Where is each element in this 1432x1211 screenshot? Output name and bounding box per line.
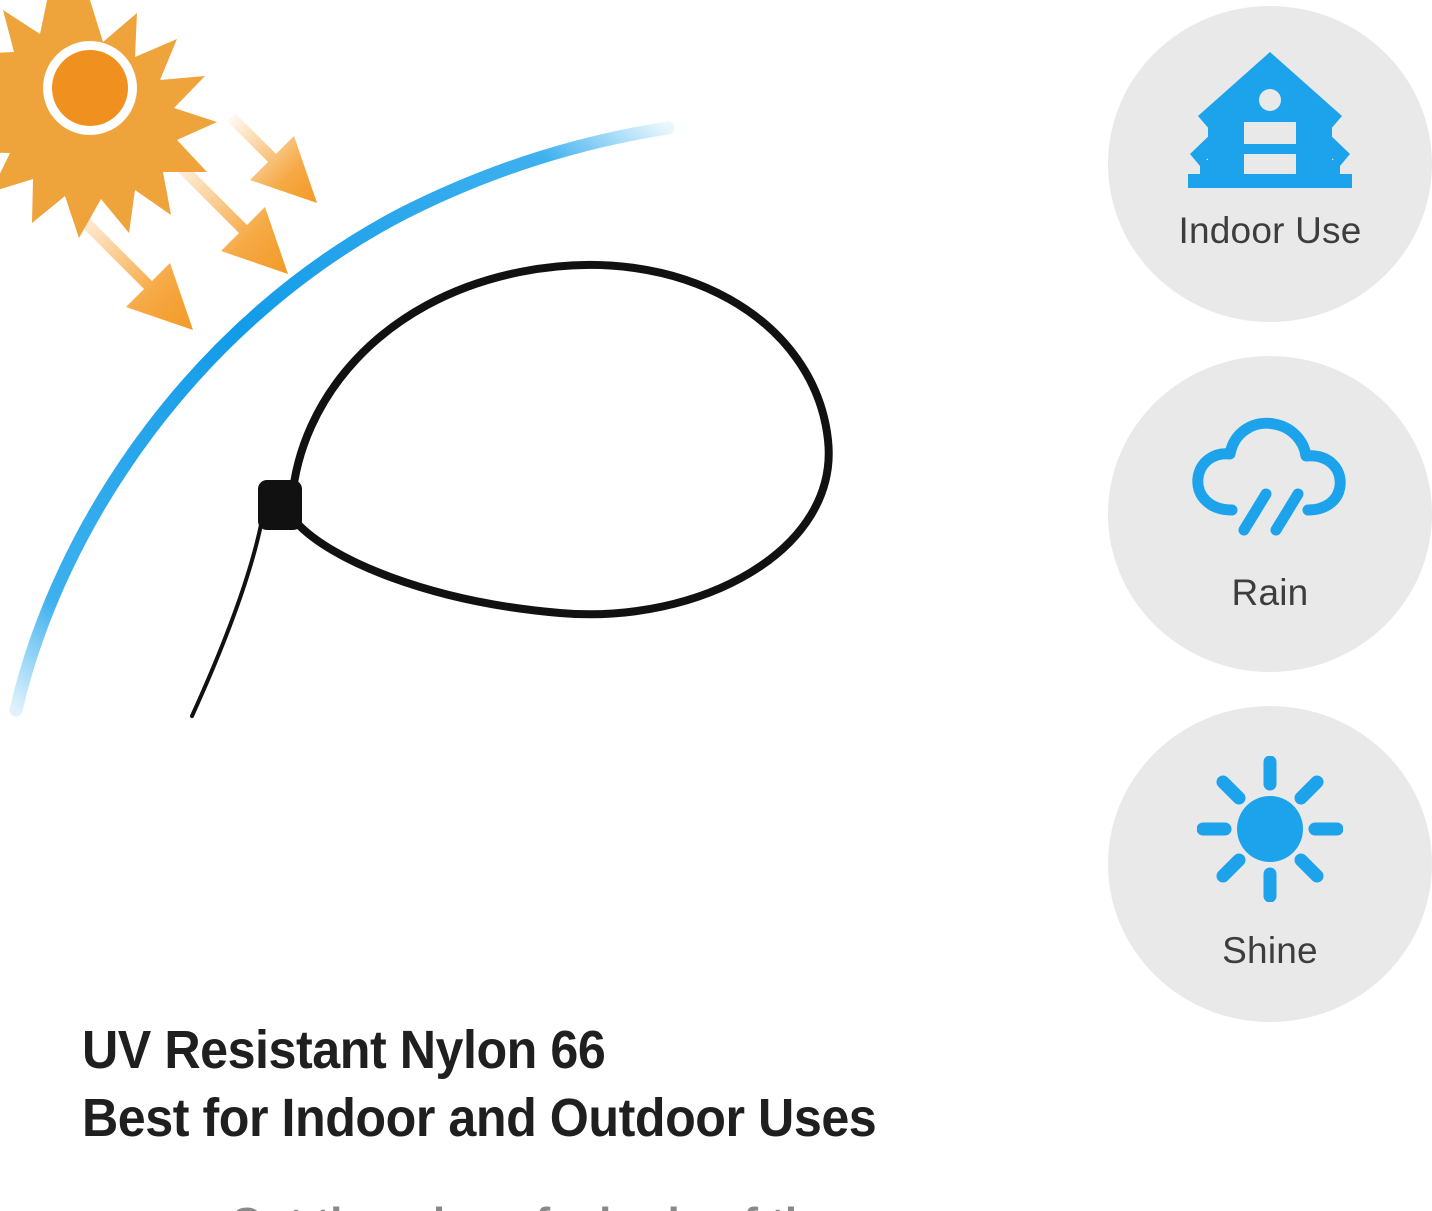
black-cable-tie	[192, 265, 829, 716]
house-icon	[1182, 50, 1358, 190]
badge-label: Rain	[1232, 574, 1309, 611]
headline-block: UV Resistant Nylon 66 Best for Indoor an…	[82, 1016, 1082, 1152]
sun-shine-icon	[1197, 756, 1343, 902]
badge-label: Indoor Use	[1179, 212, 1362, 249]
feature-badge-rain[interactable]: Rain	[1108, 356, 1432, 672]
sun-burst-icon	[0, 0, 217, 238]
feature-badge-indoor-use[interactable]: Indoor Use	[1108, 6, 1432, 322]
badge-label: Shine	[1222, 932, 1318, 969]
product-infographic: Indoor Use Rain	[0, 0, 1432, 1211]
headline-line-2: Best for Indoor and Outdoor Uses	[82, 1084, 1012, 1152]
feature-badge-list: Indoor Use Rain	[1108, 6, 1432, 1026]
rain-cloud-icon	[1182, 412, 1358, 540]
uv-ray-arrow-3	[227, 113, 317, 203]
bottom-caption-cropped: Cut the edge of a body of the same steel	[230, 1196, 990, 1211]
blue-uv-shield-arc	[16, 128, 668, 710]
uv-resistance-illustration	[0, 0, 1060, 990]
headline-line-1: UV Resistant Nylon 66	[82, 1016, 1012, 1084]
feature-badge-shine[interactable]: Shine	[1108, 706, 1432, 1022]
